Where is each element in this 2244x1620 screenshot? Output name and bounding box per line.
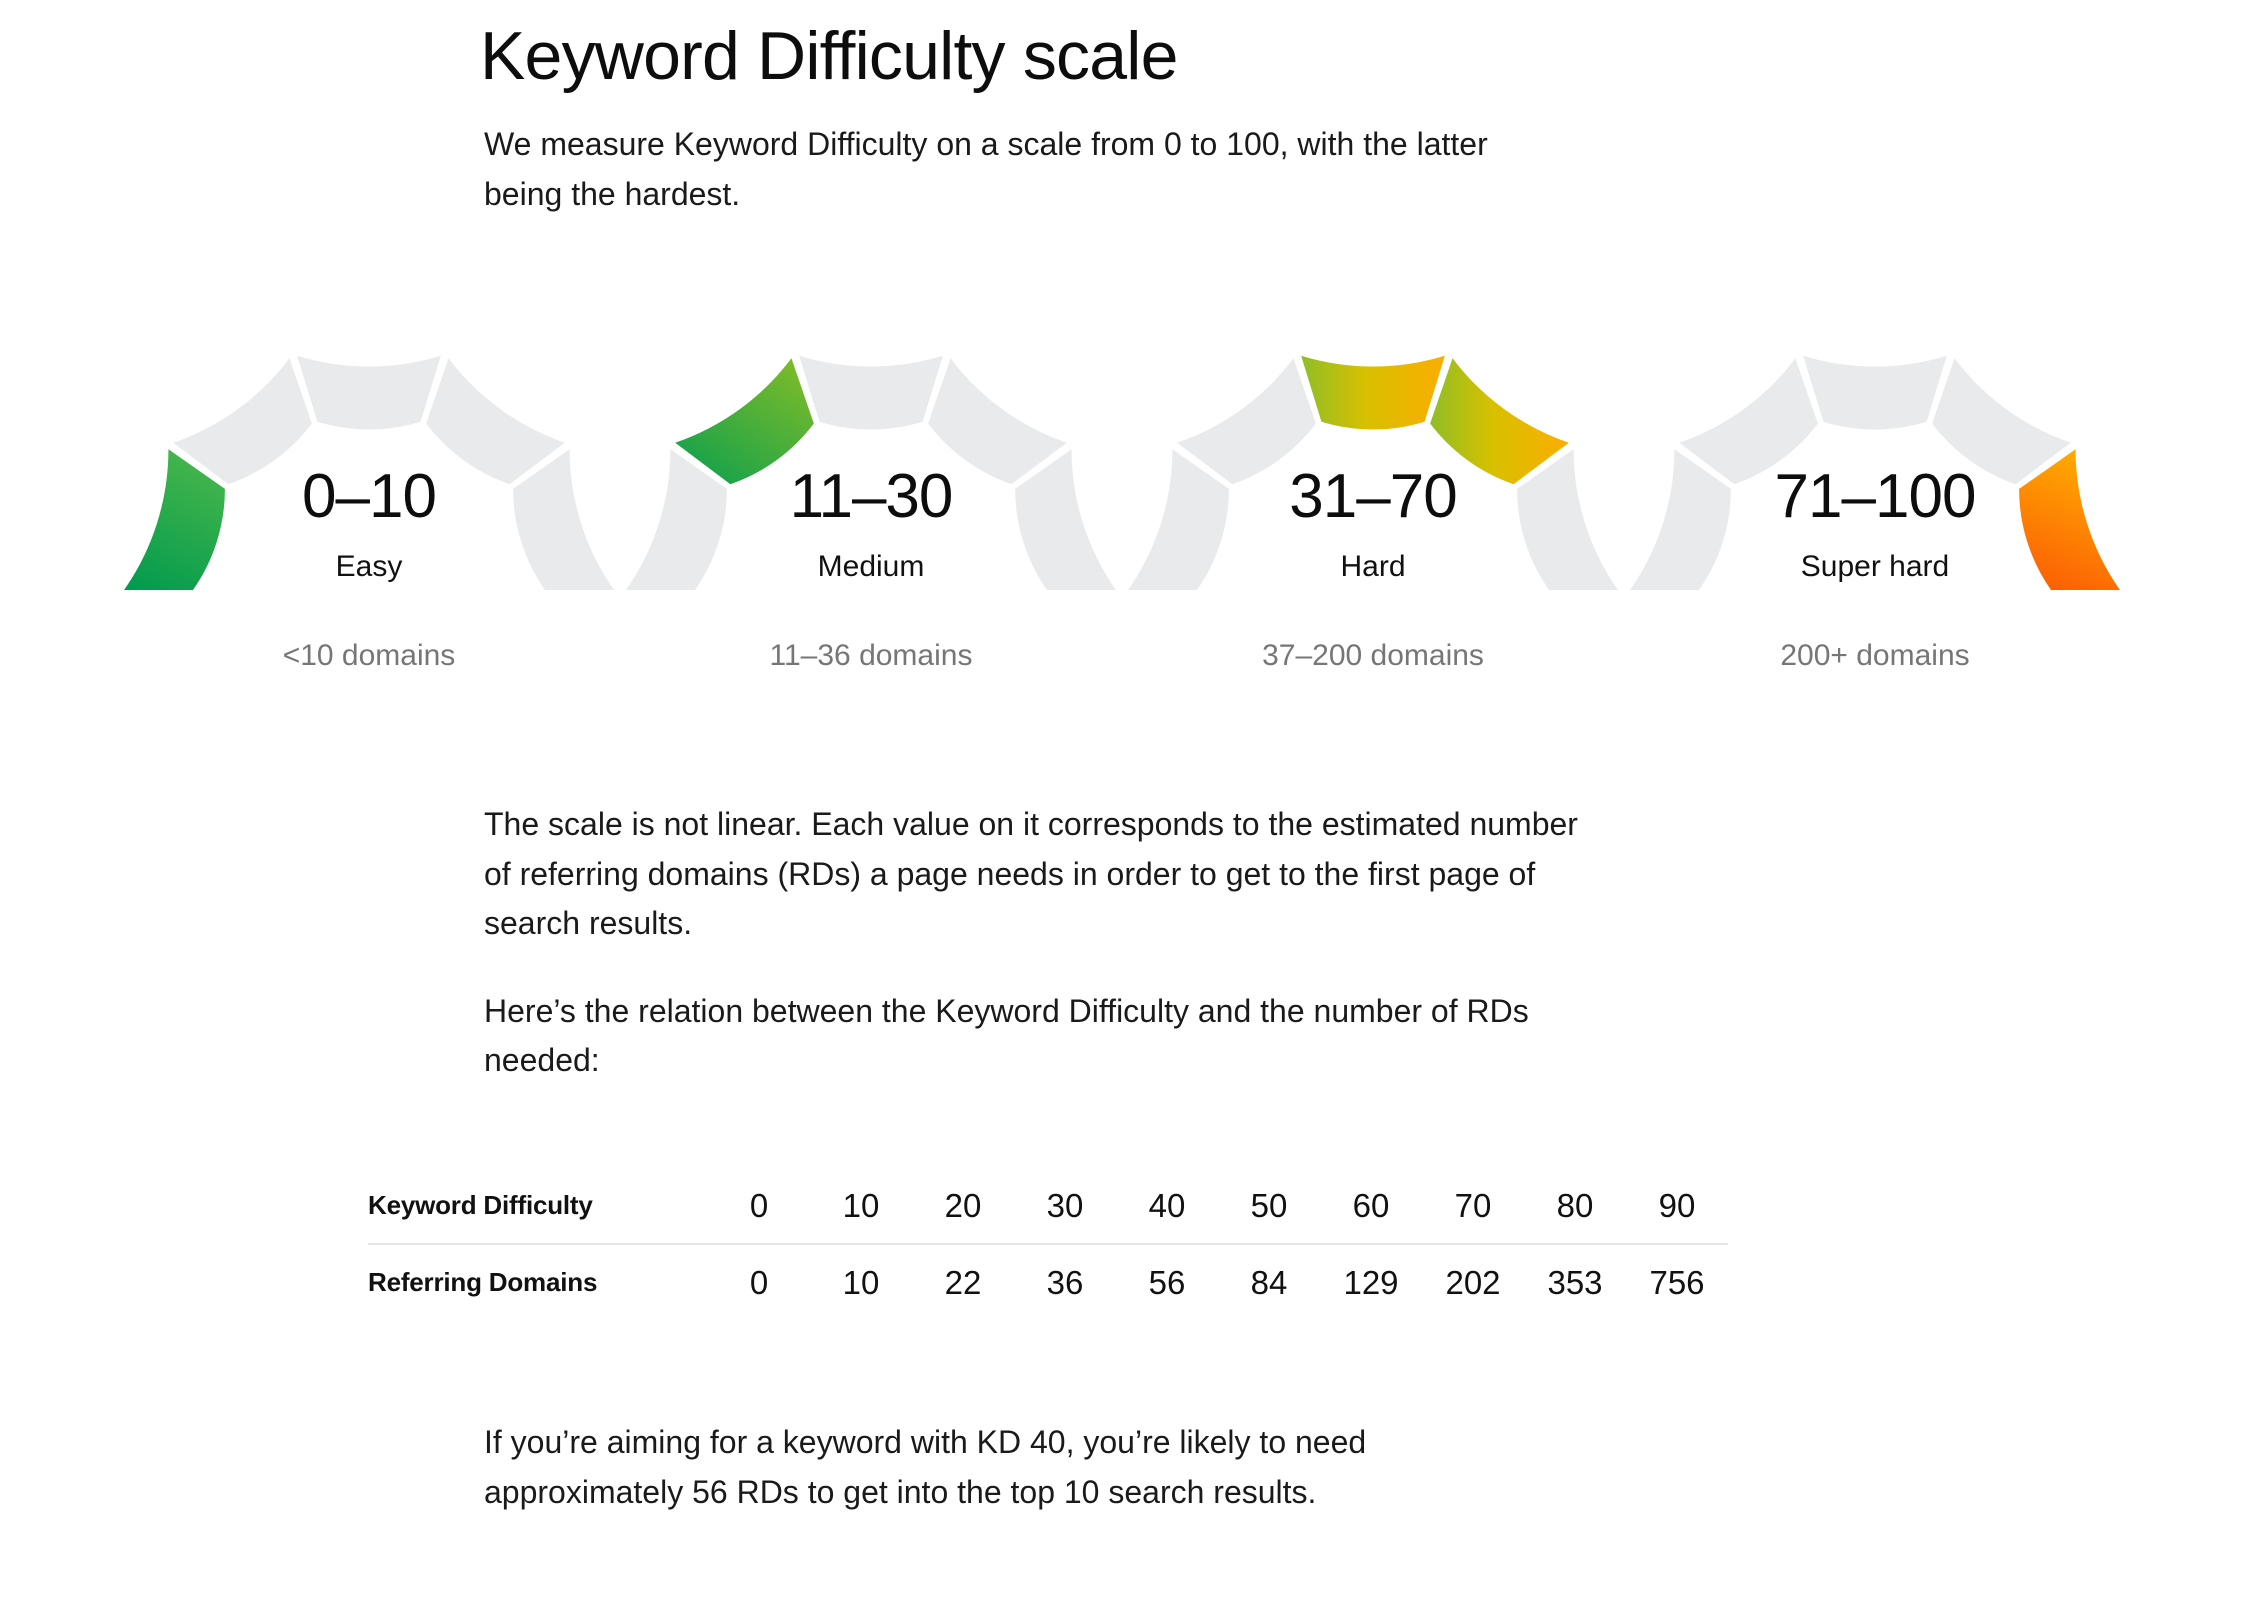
cell-rd-2: 22	[912, 1244, 1014, 1320]
gauge-arc-svg-medium	[621, 318, 1121, 603]
cell-rd-3: 36	[1014, 1244, 1116, 1320]
cell-rd-9: 756	[1626, 1244, 1728, 1320]
cell-rd-7: 202	[1422, 1244, 1524, 1320]
gauge-card-easy: 0–10 Easy <10 domains	[118, 318, 620, 673]
table-body: Keyword Difficulty 0 10 20 30 40 50 60 7…	[368, 1168, 1728, 1320]
gauge-segment-track	[928, 358, 1067, 484]
cell-rd-6: 129	[1320, 1244, 1422, 1320]
gauge-subtext-medium: 11–36 domains	[770, 639, 973, 673]
gauge-dial-easy: 0–10 Easy	[119, 318, 619, 603]
gauge-card-hard: 31–70 Hard 37–200 domains	[1122, 318, 1624, 673]
gauge-segment-track	[1015, 449, 1116, 590]
gauge-arc-svg-hard	[1123, 318, 1623, 603]
gauge-subtext-hard: 37–200 domains	[1262, 639, 1484, 673]
row-header-referring-domains: Referring Domains	[368, 1244, 708, 1320]
body-paragraph-1: The scale is not linear. Each value on i…	[484, 800, 1604, 949]
gauge-segment-track	[1517, 449, 1618, 590]
cell-kd-8: 80	[1524, 1168, 1626, 1244]
closing-copy: If you’re aiming for a keyword with KD 4…	[484, 1418, 1544, 1517]
gauge-segment-track	[1679, 358, 1818, 484]
body-paragraph-2: Here’s the relation between the Keyword …	[484, 987, 1604, 1086]
table-row-referring-domains: Referring Domains 0 10 22 36 56 84 129 2…	[368, 1244, 1728, 1320]
closing-paragraph: If you’re aiming for a keyword with KD 4…	[484, 1418, 1544, 1517]
cell-rd-8: 353	[1524, 1244, 1626, 1320]
gauge-segment-track	[1128, 449, 1229, 590]
page-title: Keyword Difficulty scale	[480, 18, 2244, 94]
gauge-subtext-easy: <10 domains	[283, 639, 456, 673]
cell-kd-3: 30	[1014, 1168, 1116, 1244]
row-header-keyword-difficulty: Keyword Difficulty	[368, 1168, 708, 1244]
cell-rd-4: 56	[1116, 1244, 1218, 1320]
gauge-card-medium: 11–30 Medium 11–36 domains	[620, 318, 1122, 673]
gauge-row: 0–10 Easy <10 domains 11	[0, 318, 2244, 673]
gauge-segment-track	[426, 358, 565, 484]
gauge-dial-hard: 31–70 Hard	[1123, 318, 1623, 603]
kd-rd-table-wrapper: Keyword Difficulty 0 10 20 30 40 50 60 7…	[368, 1168, 1728, 1320]
gauge-segment-active	[1430, 358, 1569, 484]
page-header: Keyword Difficulty scale We measure Keyw…	[0, 0, 2244, 219]
keyword-difficulty-scale-page: Keyword Difficulty scale We measure Keyw…	[0, 0, 2244, 1620]
cell-kd-6: 60	[1320, 1168, 1422, 1244]
intro-paragraph: We measure Keyword Difficulty on a scale…	[484, 120, 1504, 219]
cell-rd-0: 0	[708, 1244, 810, 1320]
gauge-segment-track	[1932, 358, 2071, 484]
gauge-segment-track	[799, 356, 943, 430]
gauge-segment-active	[1301, 356, 1445, 430]
cell-kd-9: 90	[1626, 1168, 1728, 1244]
gauge-arc-svg-super-hard	[1625, 318, 2125, 603]
gauge-segment-track	[1177, 358, 1316, 484]
cell-rd-1: 10	[810, 1244, 912, 1320]
gauge-arc-svg-easy	[119, 318, 619, 603]
gauge-segment-track	[1803, 356, 1947, 430]
gauge-segment-track	[513, 449, 614, 590]
cell-kd-2: 20	[912, 1168, 1014, 1244]
gauge-dial-medium: 11–30 Medium	[621, 318, 1121, 603]
gauge-segment-track	[297, 356, 441, 430]
cell-kd-1: 10	[810, 1168, 912, 1244]
cell-kd-4: 40	[1116, 1168, 1218, 1244]
cell-kd-7: 70	[1422, 1168, 1524, 1244]
gauge-dial-super-hard: 71–100 Super hard	[1625, 318, 2125, 603]
gauge-segment-track	[626, 449, 727, 590]
gauge-segment-active	[2019, 449, 2120, 590]
gauge-segment-track	[1630, 449, 1731, 590]
gauge-segment-track	[173, 358, 312, 484]
gauge-segment-active	[675, 358, 814, 484]
body-copy: The scale is not linear. Each value on i…	[484, 800, 1604, 1086]
table-row-keyword-difficulty: Keyword Difficulty 0 10 20 30 40 50 60 7…	[368, 1168, 1728, 1244]
gauge-segment-active	[124, 449, 225, 590]
cell-kd-0: 0	[708, 1168, 810, 1244]
cell-kd-5: 50	[1218, 1168, 1320, 1244]
gauge-subtext-super-hard: 200+ domains	[1780, 639, 1969, 673]
kd-rd-table: Keyword Difficulty 0 10 20 30 40 50 60 7…	[368, 1168, 1728, 1320]
cell-rd-5: 84	[1218, 1244, 1320, 1320]
gauge-card-super-hard: 71–100 Super hard 200+ domains	[1624, 318, 2126, 673]
